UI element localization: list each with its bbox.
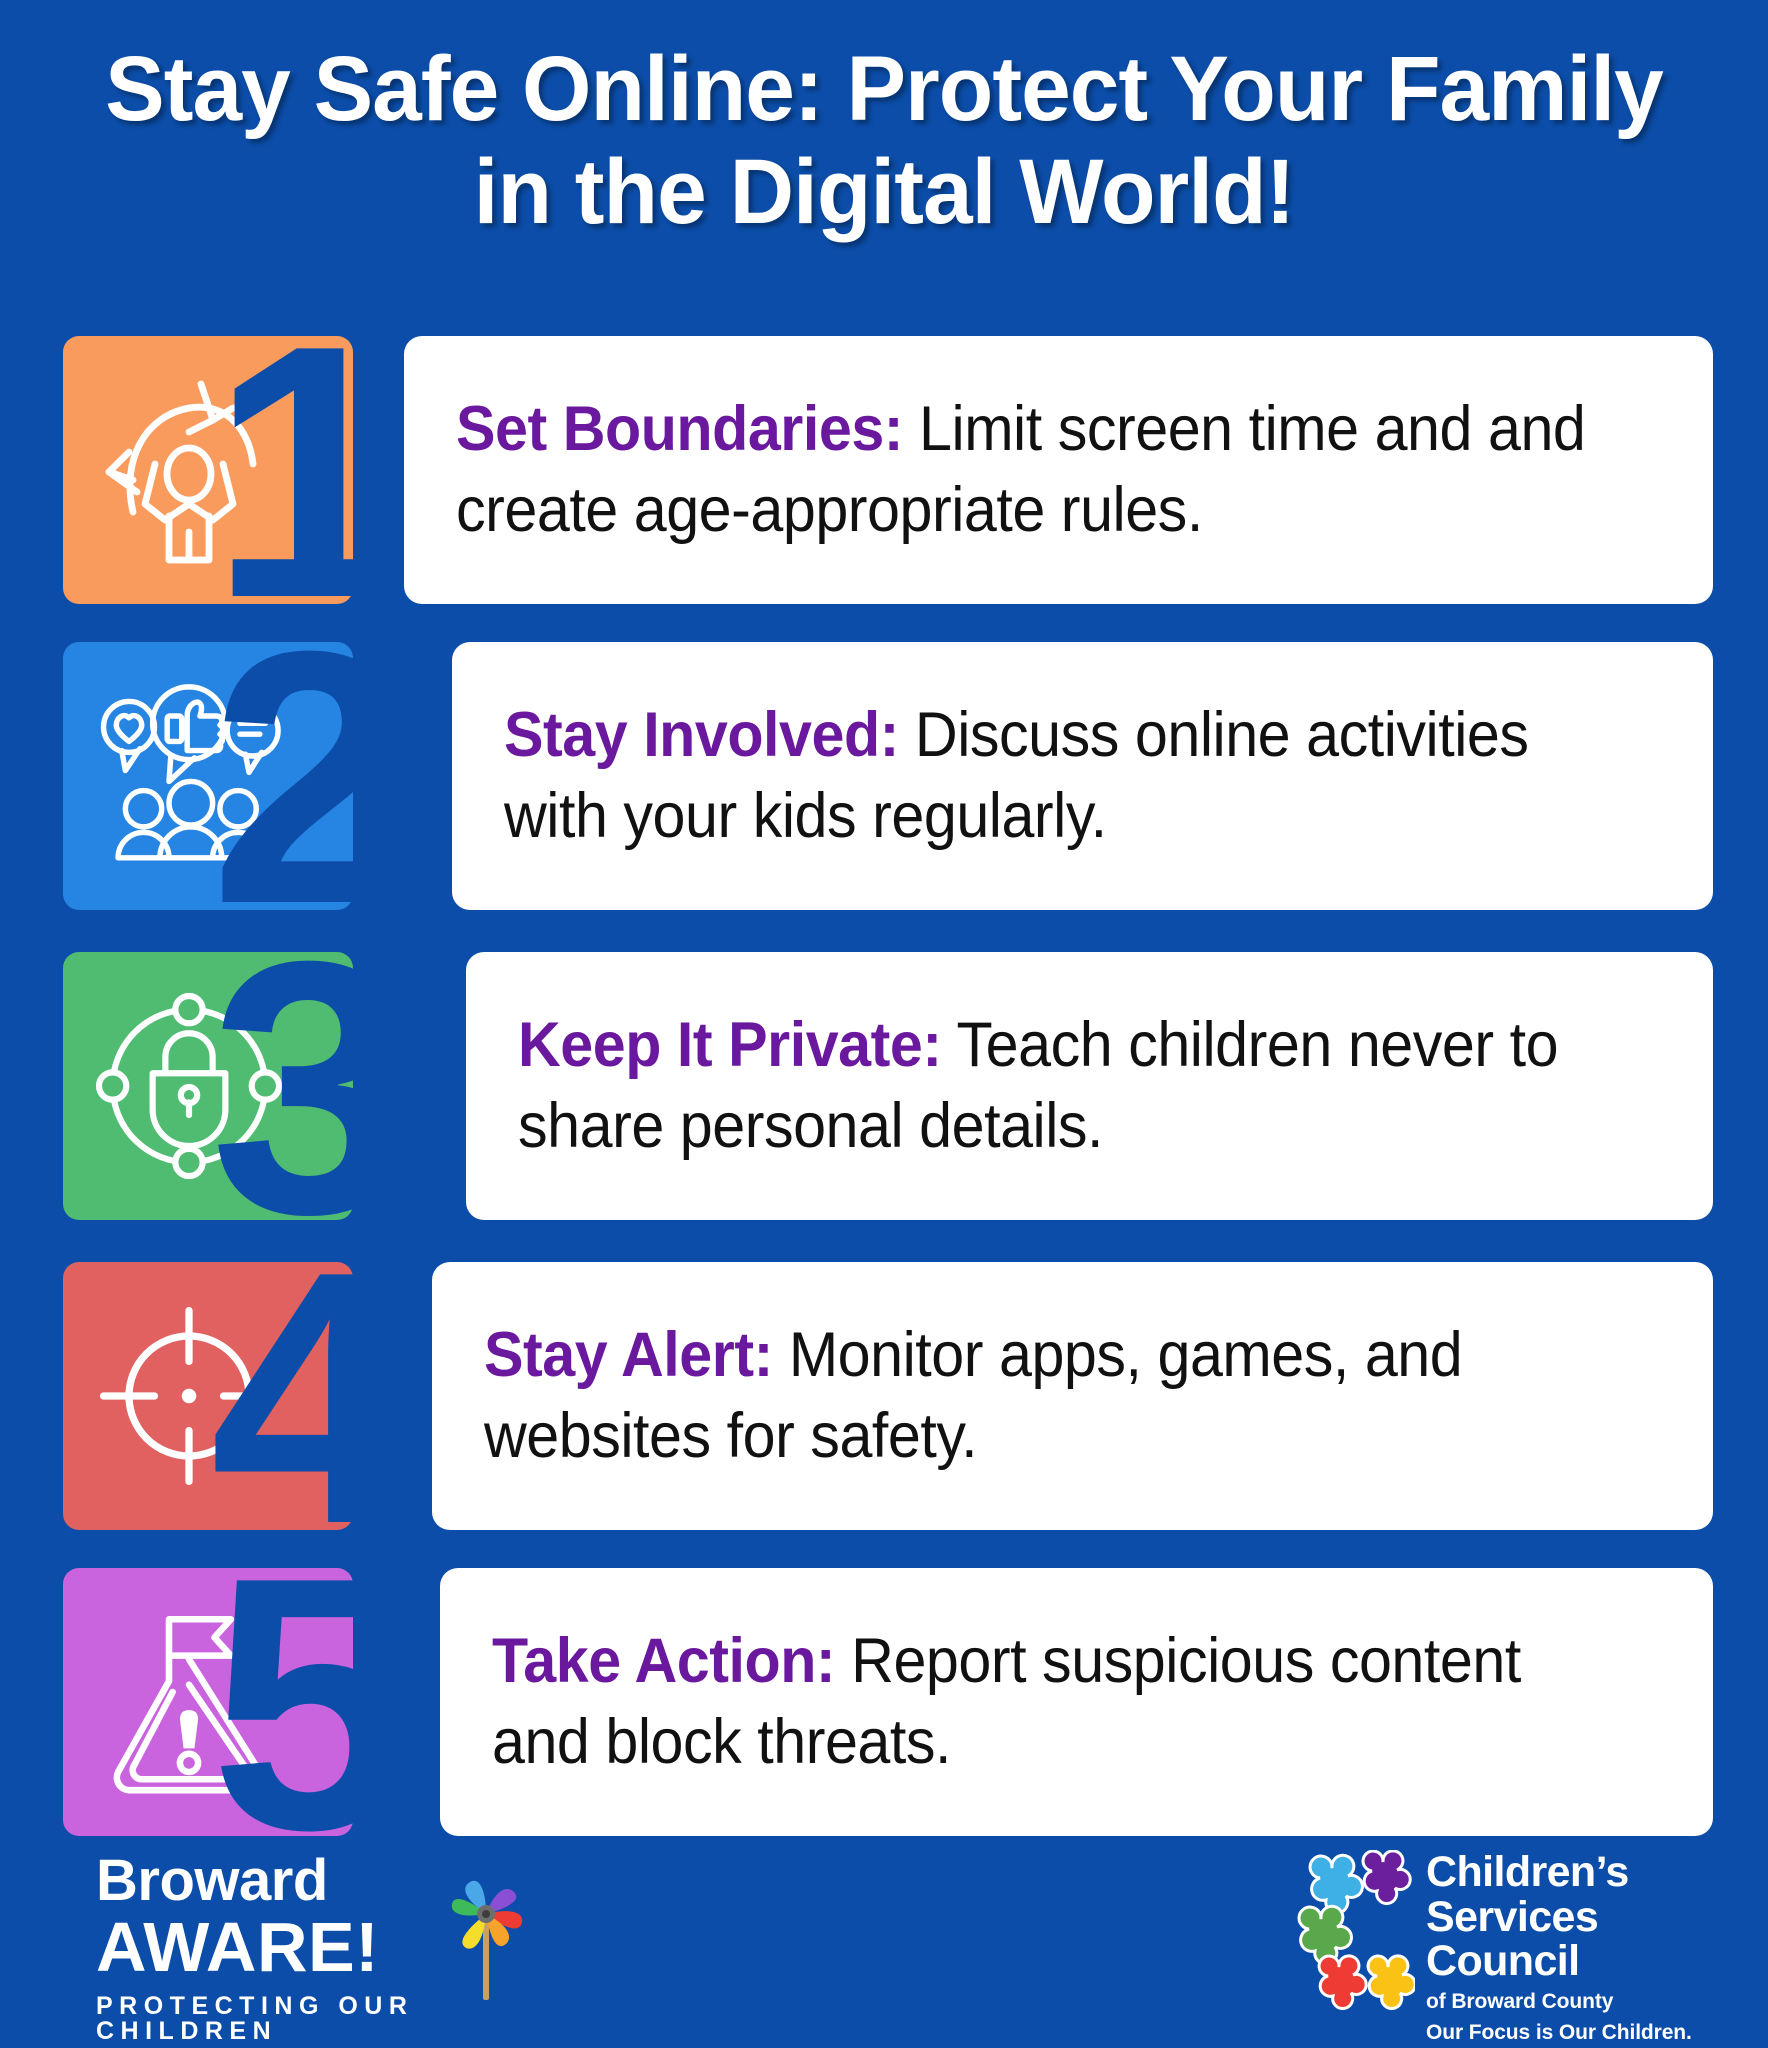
infographic-poster: Stay Safe Online: Protect Your Family in… (0, 0, 1768, 2048)
csc-subline1: of Broward County (1426, 1989, 1716, 2015)
tip-card-5: Take Action: Report suspicious content a… (440, 1568, 1713, 1836)
tip-text-3: Keep It Private: Teach children never to… (518, 1005, 1600, 1166)
csc-line3: Council (1426, 1939, 1716, 1984)
tip-card-1: Set Boundaries: Limit screen time and an… (404, 336, 1713, 604)
tip-row-2: 2 Stay Involved: Discuss online activiti… (0, 642, 1768, 910)
tip-card-3: Keep It Private: Teach children never to… (466, 952, 1713, 1220)
pinwheel-icon (426, 1862, 546, 2002)
tip-icon-tile-2 (63, 642, 353, 910)
tip-lead-3: Keep It Private: (518, 1010, 942, 1080)
people-social-engagement-icon (89, 666, 289, 886)
csc-text-block: Children’s Services Council of Broward C… (1426, 1850, 1716, 2045)
broward-aware-logo: Broward AWARE! PROTECTING OUR CHILDREN (96, 1852, 566, 2032)
tip-icon-tile-1 (63, 336, 353, 604)
childrens-services-council-logo: Children’s Services Council of Broward C… (1290, 1846, 1710, 2036)
tip-card-2: Stay Involved: Discuss online activities… (452, 642, 1713, 910)
puzzle-people-icon (1290, 1850, 1415, 2015)
tip-icon-tile-4 (63, 1262, 353, 1530)
csc-subline2: Our Focus is Our Children. (1426, 2020, 1716, 2046)
crosshair-target-monitor-icon (89, 1286, 289, 1506)
tip-row-3: 3 Keep It Private: Teach children never … (0, 952, 1768, 1220)
footer: Broward AWARE! PROTECTING OUR CHILDREN (0, 1840, 1768, 2048)
padlock-network-privacy-icon (89, 976, 289, 1196)
tip-icon-tile-3 (63, 952, 353, 1220)
warning-triangle-flag-icon (89, 1592, 289, 1812)
page-title: Stay Safe Online: Protect Your Family in… (27, 38, 1742, 244)
tip-text-5: Take Action: Report suspicious content a… (492, 1621, 1598, 1782)
tip-text-4: Stay Alert: Monitor apps, games, and web… (484, 1315, 1598, 1476)
csc-line2: Services (1426, 1895, 1716, 1940)
tip-text-2: Stay Involved: Discuss online activities… (504, 695, 1599, 856)
tip-lead-1: Set Boundaries: (456, 394, 903, 464)
tip-row-4: 4 Stay Alert: Monitor apps, games, and w… (0, 1262, 1768, 1530)
csc-line1: Children’s (1426, 1850, 1716, 1895)
person-arrows-boundary-icon (89, 360, 289, 580)
tip-lead-5: Take Action: (492, 1626, 835, 1696)
tip-row-5: 5 Take Action: Report suspicious content… (0, 1568, 1768, 1836)
tip-lead-4: Stay Alert: (484, 1320, 773, 1390)
tip-card-4: Stay Alert: Monitor apps, games, and web… (432, 1262, 1713, 1530)
tip-row-1: 1 Set Boundaries: Limit screen time and … (0, 336, 1768, 604)
tip-icon-tile-5 (63, 1568, 353, 1836)
tip-text-1: Set Boundaries: Limit screen time and an… (456, 389, 1596, 550)
tip-lead-2: Stay Involved: (504, 700, 899, 770)
